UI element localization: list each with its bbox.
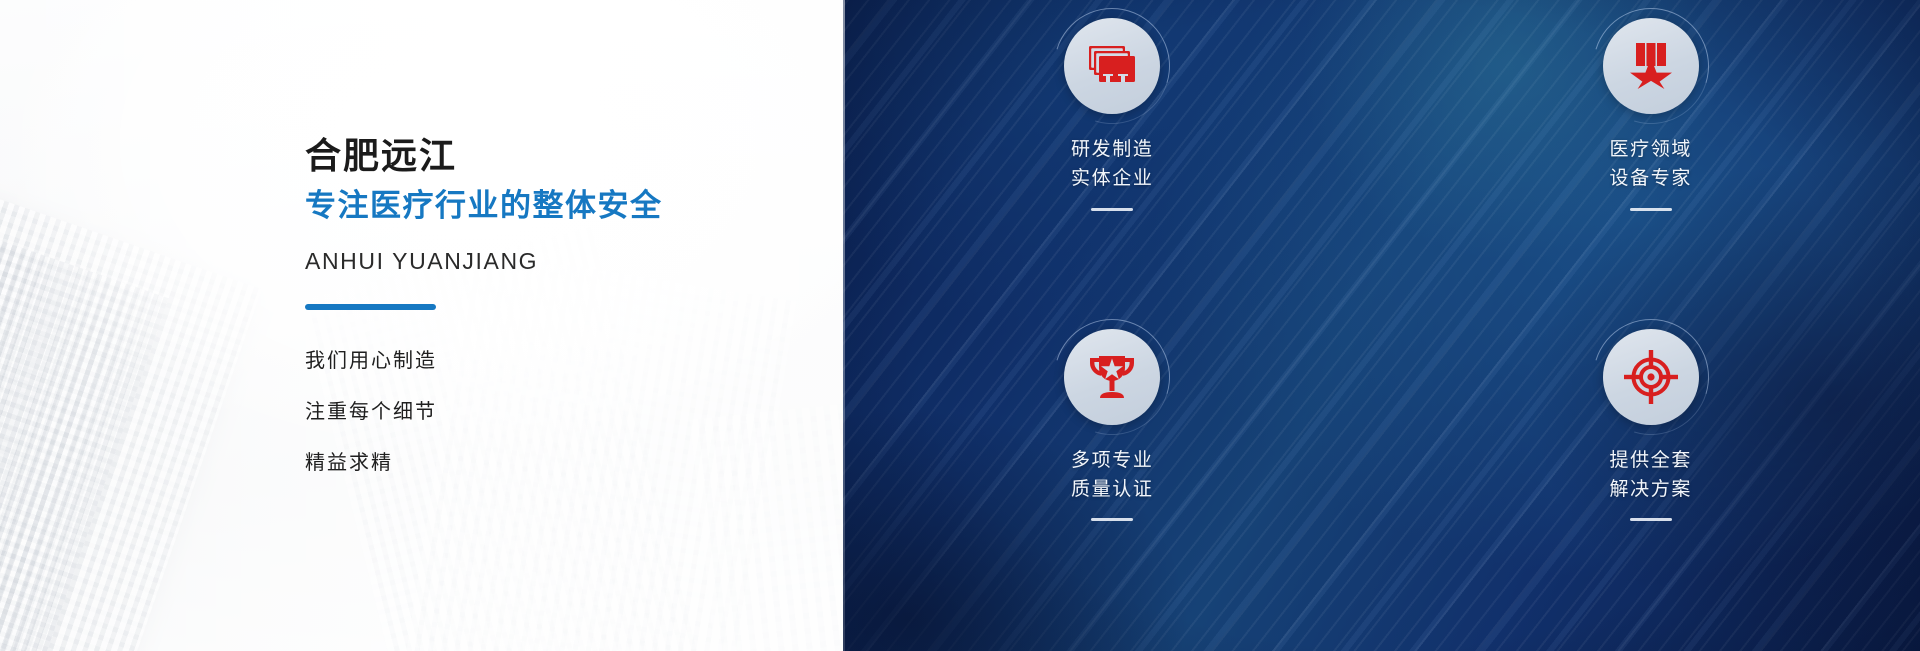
feature-underline bbox=[1630, 518, 1672, 521]
feature-underline bbox=[1630, 208, 1672, 211]
badge-arc-ring bbox=[1572, 0, 1729, 144]
left-hero-panel: 合肥远江 专注医疗行业的整体安全 ANHUI YUANJIANG 我们用心制造 … bbox=[0, 0, 843, 651]
feature-grid: 研发制造 实体企业 bbox=[843, 0, 1920, 651]
feature-item-quality-certification[interactable]: 多项专业 质量认证 bbox=[843, 326, 1382, 651]
feature-label: 医疗领域 设备专家 bbox=[1610, 135, 1692, 194]
accent-divider bbox=[305, 304, 436, 310]
feature-badge bbox=[1064, 18, 1160, 114]
feature-badge bbox=[1064, 329, 1160, 425]
tagline-heading: 专注医疗行业的整体安全 bbox=[305, 187, 785, 226]
feature-label-line-2: 解决方案 bbox=[1610, 475, 1692, 504]
feature-item-full-solution[interactable]: 提供全套 解决方案 bbox=[1382, 326, 1920, 651]
slogan-line-1: 我们用心制造 bbox=[305, 351, 785, 371]
feature-item-medical-expert[interactable]: 医疗领域 设备专家 bbox=[1382, 0, 1920, 326]
feature-badge bbox=[1603, 329, 1699, 425]
feature-label-line-1: 医疗领域 bbox=[1610, 135, 1692, 164]
feature-label-line-2: 设备专家 bbox=[1610, 164, 1692, 193]
feature-label-line-1: 多项专业 bbox=[1071, 446, 1153, 475]
panel-divider bbox=[843, 0, 845, 651]
badge-arc-ring bbox=[1034, 0, 1191, 144]
feature-label-line-1: 研发制造 bbox=[1071, 135, 1153, 164]
feature-item-rd-manufacturing[interactable]: 研发制造 实体企业 bbox=[843, 0, 1382, 326]
feature-label: 研发制造 实体企业 bbox=[1071, 135, 1153, 194]
feature-label: 提供全套 解决方案 bbox=[1610, 446, 1692, 505]
feature-label-line-2: 实体企业 bbox=[1071, 164, 1153, 193]
promo-banner: 合肥远江 专注医疗行业的整体安全 ANHUI YUANJIANG 我们用心制造 … bbox=[0, 0, 1920, 651]
slogan-line-2: 注重每个细节 bbox=[305, 402, 785, 422]
feature-badge bbox=[1603, 18, 1699, 114]
slogan-line-3: 精益求精 bbox=[305, 453, 785, 473]
feature-underline bbox=[1091, 518, 1133, 521]
company-name-pinyin: ANHUI YUANJIANG bbox=[305, 248, 785, 275]
slogan-list: 我们用心制造 注重每个细节 精益求精 bbox=[305, 351, 785, 473]
right-feature-panel: 研发制造 实体企业 bbox=[843, 0, 1920, 651]
feature-label-line-2: 质量认证 bbox=[1071, 475, 1153, 504]
company-name-heading: 合肥远江 bbox=[305, 133, 785, 178]
feature-label: 多项专业 质量认证 bbox=[1071, 446, 1153, 505]
feature-label-line-1: 提供全套 bbox=[1610, 446, 1692, 475]
hero-text-block: 合肥远江 专注医疗行业的整体安全 ANHUI YUANJIANG 我们用心制造 … bbox=[305, 133, 785, 473]
feature-underline bbox=[1091, 208, 1133, 211]
